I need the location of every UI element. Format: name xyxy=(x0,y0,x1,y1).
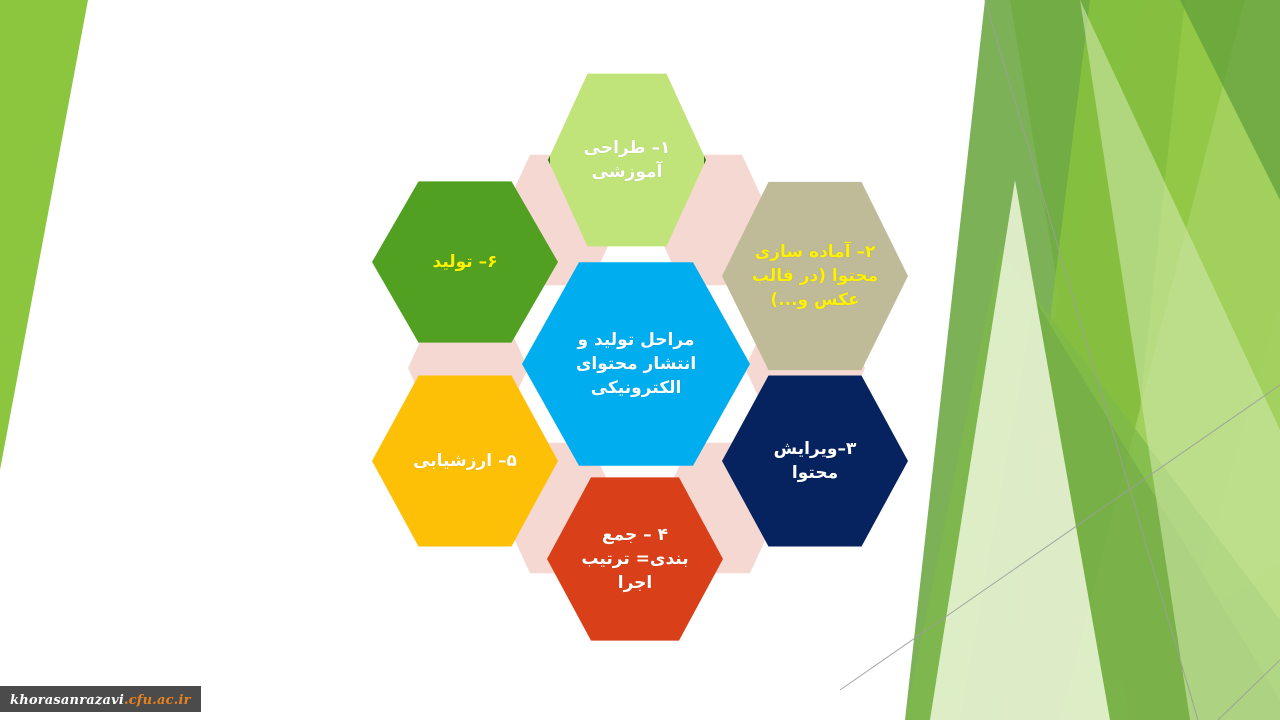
watermark-domain: khorasanrazavi xyxy=(10,693,124,708)
hex-step-1-label: ۱– طراحی آموزشی xyxy=(576,136,679,184)
hex-center[interactable]: مراحل تولید و انتشار محتوای الکترونیکی xyxy=(522,258,750,470)
hex-step-3-label: ۳–ویرایش محتوا xyxy=(766,437,865,485)
watermark-text: khorasanrazavi.cfu.ac.ir xyxy=(10,693,191,708)
hexagon-diagram: ۱– طراحی آموزشی ۲– آماده سازی محتوا (در … xyxy=(0,0,1280,720)
slide-canvas: ۱– طراحی آموزشی ۲– آماده سازی محتوا (در … xyxy=(0,0,1280,720)
watermark-tld: .cfu.ac.ir xyxy=(124,693,191,708)
hex-step-4-label: ۴ – جمع بندی= ترتیب اجرا xyxy=(573,523,696,595)
hex-step-5-label: ۵– ارزشیابی xyxy=(405,449,525,473)
hex-step-6-label: ۶– تولید xyxy=(425,250,506,274)
hex-center-label: مراحل تولید و انتشار محتوای الکترونیکی xyxy=(568,328,704,400)
site-watermark: khorasanrazavi.cfu.ac.ir xyxy=(0,686,201,712)
hex-step-2-label: ۲– آماده سازی محتوا (در قالب عکس و...) xyxy=(744,240,886,312)
